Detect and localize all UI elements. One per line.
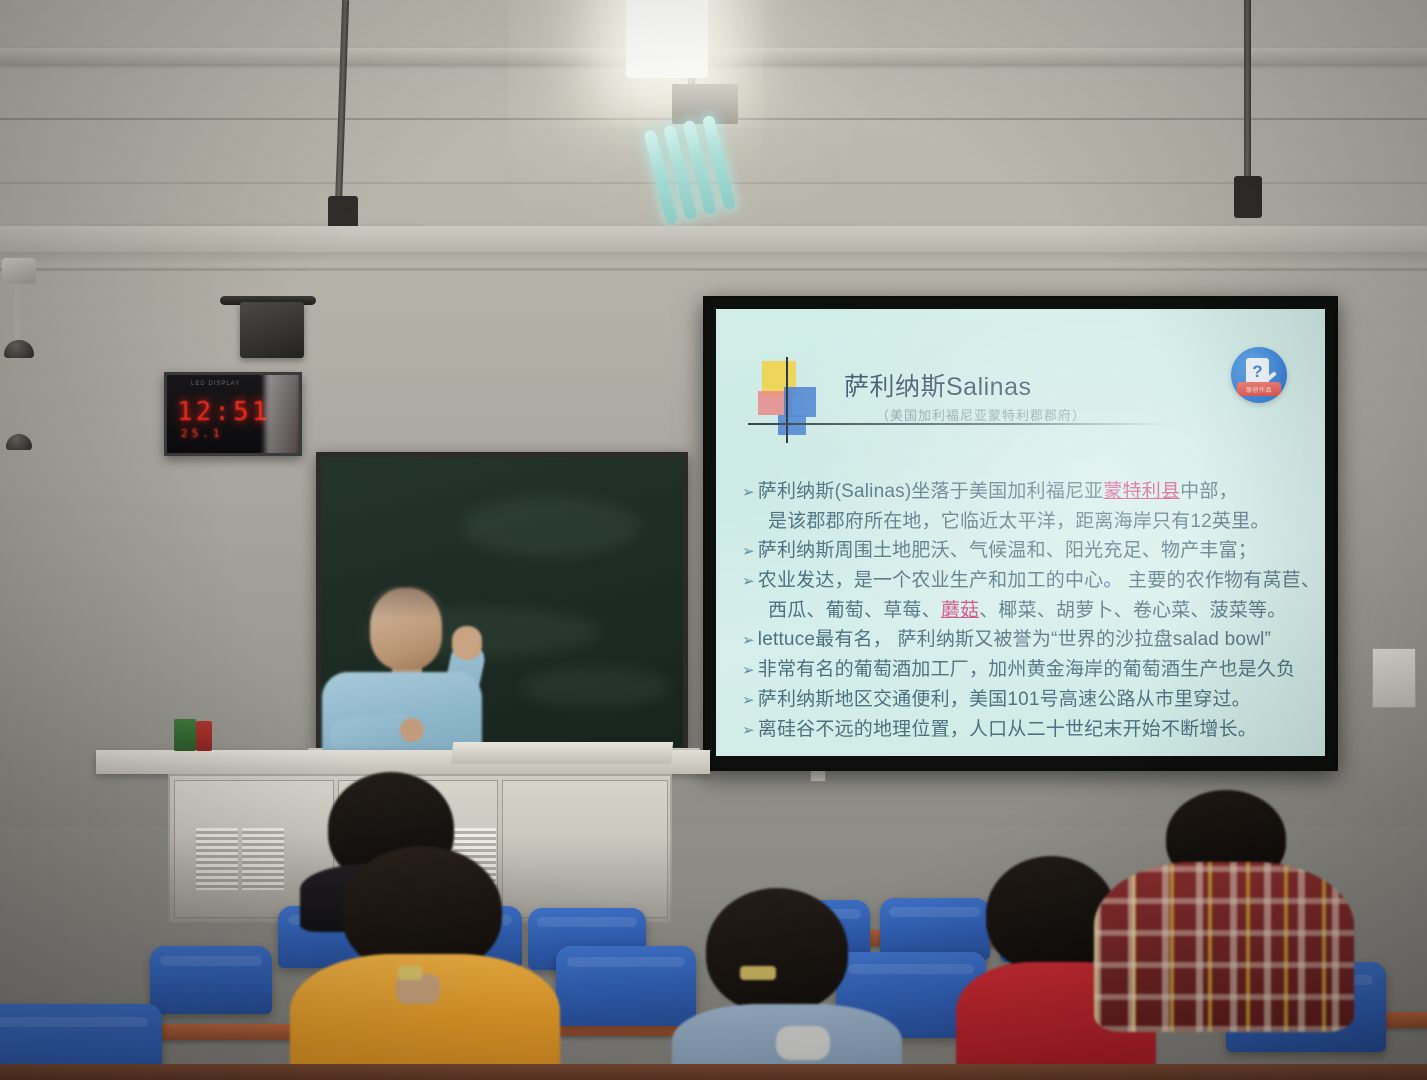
bullet-arrow-icon: ➢: [742, 573, 755, 590]
deco-square-blue: [784, 387, 816, 417]
podium-equipment: [451, 742, 673, 764]
clock-time: 12:51: [177, 397, 270, 427]
chair[interactable]: [150, 946, 272, 1014]
wall-ledge: [0, 226, 1427, 252]
bullet-text: 离硅谷不远的地理位置，人口从二十世纪末开始不断增长。: [758, 719, 1257, 740]
slide-bullet-line: 是该郡郡府所在地，它临近太平洋，距离海岸只有12英里。: [742, 507, 1315, 536]
projection-screen-frame: 萨利纳斯Salinas （美国加利福尼亚蒙特利郡郡府） ? 原创作品 ➢萨利纳斯…: [703, 296, 1338, 771]
lecturer-lower-hand: [400, 718, 424, 742]
presentation-slide: 萨利纳斯Salinas （美国加利福尼亚蒙特利郡郡府） ? 原创作品 ➢萨利纳斯…: [716, 309, 1325, 756]
slide-bullet-line: ➢离硅谷不远的地理位置，人口从二十世纪末开始不断增长。: [742, 715, 1315, 745]
badge-ribbon-label: 原创作品: [1237, 382, 1281, 396]
slide-bullet-line: ➢萨利纳斯周围土地肥沃、气候温和、阳光充足、物产丰富；: [742, 536, 1315, 566]
ceiling-beam-upper: [0, 48, 1427, 64]
clock-secondary: 25.1: [181, 427, 224, 440]
bullet-text: 是该郡郡府所在地，它临近太平洋，距离海岸只有12英里。: [768, 511, 1270, 532]
hair-clip-icon: [398, 966, 422, 980]
lecturer-hair: [366, 586, 446, 620]
slide-bullet-line: 西瓜、葡萄、草莓、蘑菇、椰菜、胡萝卜、卷心菜、菠菜等。: [742, 596, 1315, 625]
slide-subtitle: （美国加利福尼亚蒙特利郡郡府）: [876, 405, 1086, 424]
clock-glare: [265, 372, 301, 456]
clock-brand-label: LED DISPLAY: [191, 381, 240, 387]
wall-camera-mount: [2, 258, 36, 284]
slide-bullet-line: ➢萨利纳斯(Salinas)坐落于美国加利福尼亚蒙特利县中部，: [742, 477, 1315, 507]
student-plaid-shirt: [1094, 790, 1354, 1040]
ceiling-light-main: [626, 0, 708, 78]
wall-outlet: [810, 770, 826, 782]
classroom-scene: LED DISPLAY 12:51 25.1 萨利纳斯Salinas （美国加利…: [0, 0, 1427, 1080]
student-head: [706, 888, 848, 1012]
student-torso: [290, 954, 560, 1080]
led-clock-display: LED DISPLAY 12:51 25.1: [164, 372, 302, 456]
hair-clip-icon: [740, 966, 776, 980]
wall-ledge-shadow: [0, 252, 1427, 266]
bullet-arrow-icon: ➢: [742, 632, 755, 649]
floor-edge: [0, 1064, 1427, 1080]
student-orange-jacket: [290, 846, 560, 1080]
bullet-text: 西瓜、葡萄、草莓、: [768, 600, 941, 621]
highlighted-term: 蘑菇: [941, 600, 979, 621]
watermark-badge: ? 原创作品: [1231, 347, 1287, 403]
bullet-text: lettuce最有名， 萨利纳斯又被誉为“世界的沙拉盘salad bowl”: [758, 629, 1271, 650]
bullet-arrow-icon: ➢: [742, 543, 755, 560]
green-object: [174, 719, 196, 751]
bullet-arrow-icon: ➢: [742, 722, 755, 739]
wall-conduit: [14, 284, 20, 342]
deco-vertical-rule: [786, 357, 788, 443]
slide-body: ➢萨利纳斯(Salinas)坐落于美国加利福尼亚蒙特利县中部，是该郡郡府所在地，…: [742, 477, 1315, 745]
bullet-text: 萨利纳斯地区交通便利，美国101号高速公路从市里穿过。: [758, 689, 1251, 710]
wall-speaker: [240, 302, 304, 358]
student-torso: [1094, 862, 1354, 1032]
face-mask-icon: [776, 1026, 830, 1060]
lamp-bracket-right: [1234, 176, 1262, 218]
bullet-arrow-icon: ➢: [742, 692, 755, 709]
bullet-text: 中部，: [1180, 481, 1238, 502]
slide-decoration: [758, 361, 830, 433]
slide-bullet-line: ➢农业发达，是一个农业生产和加工的中心。 主要的农作物有莴苣、: [742, 566, 1315, 596]
wall-control-panel[interactable]: [1372, 648, 1416, 708]
bullet-arrow-icon: ➢: [742, 662, 755, 679]
bullet-text: 非常有名的葡萄酒加工厂，加州黄金海岸的葡萄酒生产也是久负: [758, 659, 1296, 680]
chalk-smudge: [521, 667, 671, 707]
bullet-text: 萨利纳斯周围土地肥沃、气候温和、阳光充足、物产丰富；: [758, 540, 1257, 561]
bullet-arrow-icon: ➢: [742, 484, 755, 501]
bullet-text: 萨利纳斯(Salinas)坐落于美国加利福尼亚: [758, 481, 1104, 502]
bullet-text: 、椰菜、胡萝卜、卷心菜、菠菜等。: [979, 600, 1286, 621]
highlighted-term: 蒙特利县: [1103, 481, 1180, 502]
lecturer-raised-hand: [452, 626, 482, 660]
deco-square-blue-2: [778, 415, 806, 435]
slide-bullet-line: ➢lettuce最有名， 萨利纳斯又被誉为“世界的沙拉盘salad bowl”: [742, 625, 1315, 655]
projection-screen: 萨利纳斯Salinas （美国加利福尼亚蒙特利郡郡府） ? 原创作品 ➢萨利纳斯…: [716, 309, 1325, 756]
student-denim-shirt: [672, 888, 902, 1080]
slide-bullet-line: ➢萨利纳斯地区交通便利，美国101号高速公路从市里穿过。: [742, 685, 1315, 715]
chalk-smudge: [461, 497, 641, 557]
slide-title: 萨利纳斯Salinas: [844, 367, 1032, 403]
red-object: [196, 721, 212, 751]
bullet-text: 农业发达，是一个农业生产和加工的中心。 主要的农作物有莴苣、: [758, 570, 1320, 591]
slide-bullet-line: ➢非常有名的葡萄酒加工厂，加州黄金海岸的葡萄酒生产也是久负: [742, 655, 1315, 685]
wall-seam: [0, 268, 1427, 271]
